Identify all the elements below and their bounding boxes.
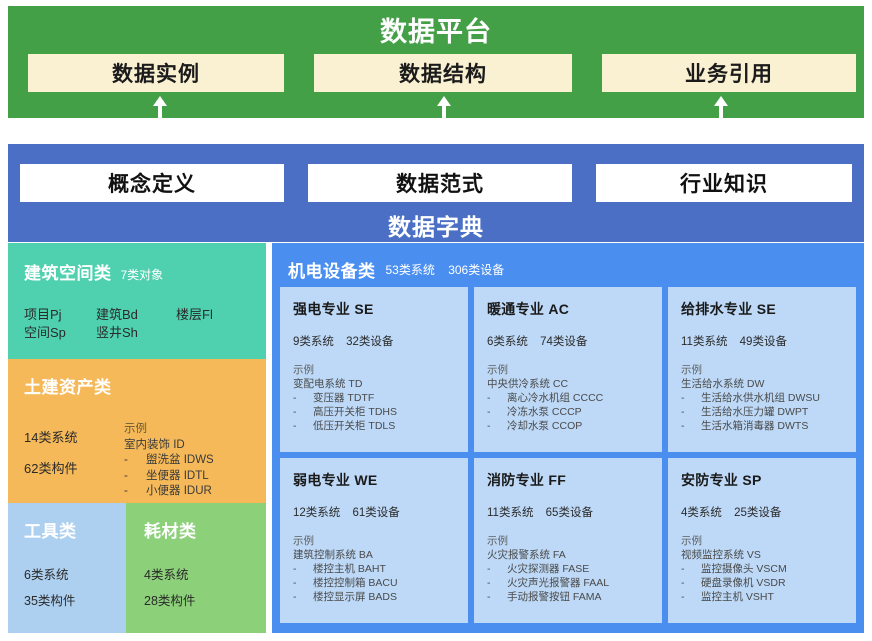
example-item: -监控主机 VSHT	[681, 590, 845, 604]
card-stat-devices: 65类设备	[546, 507, 593, 519]
example-item-label: 低压开关柜 TDLS	[313, 419, 395, 433]
panel-mep-equipment: 机电设备类 53类系统 306类设备 强电专业 SE 9类系统 32类设备 示例…	[272, 243, 864, 633]
up-arrow-icon	[153, 96, 167, 124]
platform-box-business-reference[interactable]: 业务引用	[602, 54, 856, 92]
example-item: -冷却水泵 CCOP	[487, 419, 651, 433]
example-item: -坐便器 IDTL	[124, 469, 214, 485]
panel-building-space[interactable]: 建筑空间类 7类对象 项目Pj 建筑Bd 楼层Fl 空间Sp 竖井Sh	[8, 243, 266, 359]
example-item: -楼控显示屏 BADS	[293, 590, 457, 604]
example-item-label: 高压开关柜 TDHS	[313, 405, 397, 419]
example-item-label: 离心冷水机组 CCCC	[507, 391, 603, 405]
mep-card-grid: 强电专业 SE 9类系统 32类设备 示例 变配电系统 TD -变压器 TDTF…	[280, 287, 856, 623]
card-stat-systems: 12类系统	[293, 507, 340, 519]
example-item-label: 盥洗盆 IDWS	[146, 453, 214, 469]
mep-card-security[interactable]: 安防专业 SP 4类系统 25类设备 示例 视频监控系统 VS -监控摄像头 V…	[668, 458, 856, 623]
example-item: -楼控控制箱 BACU	[293, 576, 457, 590]
panel-title: 建筑空间类	[24, 259, 112, 284]
panel-tool[interactable]: 工具类 6类系统 35类构件	[8, 503, 126, 633]
card-title: 消防专业 FF	[487, 470, 651, 490]
tool-stats: 6类系统 35类构件	[24, 562, 126, 614]
example-item-label: 坐便器 IDTL	[146, 469, 209, 485]
space-object-list: 项目Pj 建筑Bd 楼层Fl 空间Sp 竖井Sh	[24, 306, 250, 342]
platform-box-label: 数据结构	[399, 58, 487, 88]
example-system: 火灾报警系统 FA	[487, 548, 651, 562]
dash-icon: -	[487, 405, 507, 419]
panel-header: 工具类	[24, 517, 126, 542]
panel-title: 耗材类	[144, 517, 197, 542]
example-system: 生活给水系统 DW	[681, 377, 845, 391]
card-stats: 9类系统 32类设备	[293, 333, 457, 349]
platform-band: 数据平台 数据实例 数据结构 业务引用	[8, 6, 864, 118]
dash-icon: -	[681, 391, 701, 405]
card-stat-devices: 49类设备	[740, 336, 787, 348]
mep-stat-devices: 306类设备	[448, 263, 504, 277]
dash-icon: -	[293, 562, 313, 576]
example-item-label: 冷却水泵 CCOP	[507, 419, 582, 433]
example-item-label: 监控摄像头 VSCM	[701, 562, 787, 576]
dash-icon: -	[487, 419, 507, 433]
mep-card-plumbing[interactable]: 给排水专业 SE 11类系统 49类设备 示例 生活给水系统 DW -生活给水供…	[668, 287, 856, 452]
panel-civil-asset[interactable]: 土建资产类 14类系统 62类构件 示例 室内装饰 ID -盥洗盆 IDWS -…	[8, 359, 266, 503]
panel-header: 土建资产类	[24, 373, 250, 398]
mep-card-fire-fighting[interactable]: 消防专业 FF 11类系统 65类设备 示例 火灾报警系统 FA -火灾探测器 …	[474, 458, 662, 623]
card-example: 示例 生活给水系统 DW -生活给水供水机组 DWSU -生活给水压力罐 DWP…	[681, 363, 845, 433]
example-system: 室内装饰 ID	[124, 438, 214, 454]
example-item: -离心冷水机组 CCCC	[487, 391, 651, 405]
panel-title: 土建资产类	[24, 373, 112, 398]
example-item: -楼控主机 BAHT	[293, 562, 457, 576]
tool-stat-systems: 6类系统	[24, 562, 126, 588]
example-item: -盥洗盆 IDWS	[124, 453, 214, 469]
example-item-label: 火灾探测器 FASE	[507, 562, 589, 576]
civil-stat-parts: 62类构件	[24, 453, 124, 484]
card-stat-systems: 11类系统	[487, 507, 533, 519]
left-category-column: 建筑空间类 7类对象 项目Pj 建筑Bd 楼层Fl 空间Sp 竖井Sh 土建资产…	[8, 243, 266, 633]
mep-stat-systems: 53类系统	[386, 263, 435, 277]
card-stats: 11类系统 65类设备	[487, 504, 651, 520]
card-stat-systems: 9类系统	[293, 336, 334, 348]
example-item-list: -离心冷水机组 CCCC -冷冻水泵 CCCP -冷却水泵 CCOP	[487, 391, 651, 433]
card-example: 示例 中央供冷系统 CC -离心冷水机组 CCCC -冷冻水泵 CCCP -冷却…	[487, 363, 651, 433]
example-label: 示例	[487, 363, 651, 377]
card-stat-devices: 25类设备	[734, 507, 781, 519]
card-stat-systems: 6类系统	[487, 336, 528, 348]
example-item-list: -盥洗盆 IDWS -坐便器 IDTL -小便器 IDUR	[124, 453, 214, 500]
example-item-label: 变压器 TDTF	[313, 391, 374, 405]
dash-icon: -	[681, 576, 701, 590]
example-item-label: 楼控显示屏 BADS	[313, 590, 397, 604]
platform-box-label: 业务引用	[685, 58, 773, 88]
example-item-label: 冷冻水泵 CCCP	[507, 405, 582, 419]
card-example: 示例 视频监控系统 VS -监控摄像头 VSCM -硬盘录像机 VSDR -监控…	[681, 534, 845, 604]
panel-bottom-row: 工具类 6类系统 35类构件 耗材类 4类系统 28类构件	[8, 503, 266, 633]
example-item-list: -变压器 TDTF -高压开关柜 TDHS -低压开关柜 TDLS	[293, 391, 457, 433]
example-item: -生活给水供水机组 DWSU	[681, 391, 845, 405]
panel-title: 工具类	[24, 517, 77, 542]
dash-icon: -	[124, 484, 146, 500]
example-item-list: -生活给水供水机组 DWSU -生活给水压力罐 DWPT -生活水箱消毒器 DW…	[681, 391, 845, 433]
card-stats: 6类系统 74类设备	[487, 333, 651, 349]
dash-icon: -	[487, 391, 507, 405]
card-stat-devices: 61类设备	[353, 507, 400, 519]
dictionary-box-label: 行业知识	[680, 168, 768, 198]
card-example: 示例 变配电系统 TD -变压器 TDTF -高压开关柜 TDHS -低压开关柜…	[293, 363, 457, 433]
example-item: -高压开关柜 TDHS	[293, 405, 457, 419]
space-object: 楼层Fl	[176, 306, 250, 324]
card-example: 示例 火灾报警系统 FA -火灾探测器 FASE -火灾声光报警器 FAAL -…	[487, 534, 651, 604]
example-system: 变配电系统 TD	[293, 377, 457, 391]
card-stat-systems: 4类系统	[681, 507, 722, 519]
panel-header: 建筑空间类 7类对象	[24, 259, 250, 284]
dictionary-box-concept-definition[interactable]: 概念定义	[20, 164, 284, 202]
example-item-label: 小便器 IDUR	[146, 484, 212, 500]
dash-icon: -	[681, 562, 701, 576]
example-item: -手动报警按钮 FAMA	[487, 590, 651, 604]
dash-icon: -	[681, 419, 701, 433]
example-item-label: 楼控主机 BAHT	[313, 562, 386, 576]
example-item-label: 火灾声光报警器 FAAL	[507, 576, 609, 590]
card-stats: 4类系统 25类设备	[681, 504, 845, 520]
card-title: 弱电专业 WE	[293, 470, 457, 490]
panel-subtitle: 7类对象	[121, 266, 164, 283]
dash-icon: -	[681, 405, 701, 419]
card-stat-devices: 74类设备	[540, 336, 587, 348]
example-item-label: 楼控控制箱 BACU	[313, 576, 398, 590]
example-label: 示例	[293, 534, 457, 548]
example-item-label: 手动报警按钮 FAMA	[507, 590, 602, 604]
card-title: 给排水专业 SE	[681, 299, 845, 319]
dash-icon: -	[293, 419, 313, 433]
example-item-list: -楼控主机 BAHT -楼控控制箱 BACU -楼控显示屏 BADS	[293, 562, 457, 604]
platform-title: 数据平台	[8, 10, 864, 49]
dictionary-band: 概念定义 数据范式 行业知识 数据字典	[8, 144, 864, 242]
dictionary-title: 数据字典	[8, 208, 864, 242]
example-item-label: 生活给水供水机组 DWSU	[701, 391, 820, 405]
up-arrow-icon	[714, 96, 728, 124]
platform-box-data-instance[interactable]: 数据实例	[28, 54, 284, 92]
dash-icon: -	[293, 590, 313, 604]
dash-icon: -	[124, 469, 146, 485]
space-object: 建筑Bd	[96, 306, 176, 324]
mep-card-hvac[interactable]: 暖通专业 AC 6类系统 74类设备 示例 中央供冷系统 CC -离心冷水机组 …	[474, 287, 662, 452]
card-stat-devices: 32类设备	[346, 336, 393, 348]
up-arrow-icon	[437, 96, 451, 124]
dash-icon: -	[487, 562, 507, 576]
card-title: 暖通专业 AC	[487, 299, 651, 319]
dash-icon: -	[681, 590, 701, 604]
card-stats: 11类系统 49类设备	[681, 333, 845, 349]
dictionary-box-industry-knowledge[interactable]: 行业知识	[596, 164, 852, 202]
dash-icon: -	[293, 405, 313, 419]
mep-stats: 53类系统 306类设备	[386, 261, 515, 278]
example-system: 中央供冷系统 CC	[487, 377, 651, 391]
mep-card-strong-electric[interactable]: 强电专业 SE 9类系统 32类设备 示例 变配电系统 TD -变压器 TDTF…	[280, 287, 468, 452]
consumable-stat-systems: 4类系统	[144, 562, 266, 588]
example-item-list: -火灾探测器 FASE -火灾声光报警器 FAAL -手动报警按钮 FAMA	[487, 562, 651, 604]
example-item-label: 生活给水压力罐 DWPT	[701, 405, 808, 419]
dictionary-box-label: 概念定义	[108, 168, 196, 198]
card-title: 强电专业 SE	[293, 299, 457, 319]
diagram-root: 数据平台 数据实例 数据结构 业务引用 概念定义 数据范式 行业知识 数据字典 …	[0, 0, 872, 641]
example-item-label: 生活水箱消毒器 DWTS	[701, 419, 808, 433]
example-item: -生活水箱消毒器 DWTS	[681, 419, 845, 433]
example-system: 建筑控制系统 BA	[293, 548, 457, 562]
dictionary-box-label: 数据范式	[396, 168, 484, 198]
card-stats: 12类系统 61类设备	[293, 504, 457, 520]
example-label: 示例	[681, 363, 845, 377]
example-label: 示例	[293, 363, 457, 377]
example-label: 示例	[124, 422, 214, 438]
example-label: 示例	[487, 534, 651, 548]
dash-icon: -	[487, 590, 507, 604]
consumable-stat-parts: 28类构件	[144, 588, 266, 614]
example-item-label: 硬盘录像机 VSDR	[701, 576, 786, 590]
mep-header: 机电设备类 53类系统 306类设备	[280, 251, 856, 287]
tool-stat-parts: 35类构件	[24, 588, 126, 614]
panel-consumable[interactable]: 耗材类 4类系统 28类构件	[126, 503, 266, 633]
consumable-stats: 4类系统 28类构件	[144, 562, 266, 614]
example-item: -变压器 TDTF	[293, 391, 457, 405]
example-item: -低压开关柜 TDLS	[293, 419, 457, 433]
card-title: 安防专业 SP	[681, 470, 845, 490]
space-object: 竖井Sh	[96, 324, 176, 342]
dictionary-box-data-paradigm[interactable]: 数据范式	[308, 164, 572, 202]
example-label: 示例	[681, 534, 845, 548]
example-item: -火灾探测器 FASE	[487, 562, 651, 576]
space-object-empty	[176, 324, 250, 342]
example-item: -监控摄像头 VSCM	[681, 562, 845, 576]
dash-icon: -	[124, 453, 146, 469]
example-item: -生活给水压力罐 DWPT	[681, 405, 845, 419]
dash-icon: -	[293, 391, 313, 405]
civil-body: 14类系统 62类构件 示例 室内装饰 ID -盥洗盆 IDWS -坐便器 ID…	[24, 422, 250, 500]
example-item: -小便器 IDUR	[124, 484, 214, 500]
platform-box-data-structure[interactable]: 数据结构	[314, 54, 572, 92]
dash-icon: -	[487, 576, 507, 590]
card-stat-systems: 11类系统	[681, 336, 727, 348]
card-example: 示例 建筑控制系统 BA -楼控主机 BAHT -楼控控制箱 BACU -楼控显…	[293, 534, 457, 604]
civil-stat-systems: 14类系统	[24, 422, 124, 453]
civil-example: 示例 室内装饰 ID -盥洗盆 IDWS -坐便器 IDTL -小便器 IDUR	[124, 422, 214, 500]
dash-icon: -	[293, 576, 313, 590]
panel-header: 耗材类	[144, 517, 266, 542]
space-object: 项目Pj	[24, 306, 96, 324]
example-item: -硬盘录像机 VSDR	[681, 576, 845, 590]
space-object: 空间Sp	[24, 324, 96, 342]
mep-title: 机电设备类	[288, 257, 376, 282]
mep-card-weak-electric[interactable]: 弱电专业 WE 12类系统 61类设备 示例 建筑控制系统 BA -楼控主机 B…	[280, 458, 468, 623]
example-item: -火灾声光报警器 FAAL	[487, 576, 651, 590]
example-item-list: -监控摄像头 VSCM -硬盘录像机 VSDR -监控主机 VSHT	[681, 562, 845, 604]
example-system: 视频监控系统 VS	[681, 548, 845, 562]
platform-box-label: 数据实例	[112, 58, 200, 88]
civil-stats: 14类系统 62类构件	[24, 422, 124, 500]
example-item-label: 监控主机 VSHT	[701, 590, 774, 604]
example-item: -冷冻水泵 CCCP	[487, 405, 651, 419]
